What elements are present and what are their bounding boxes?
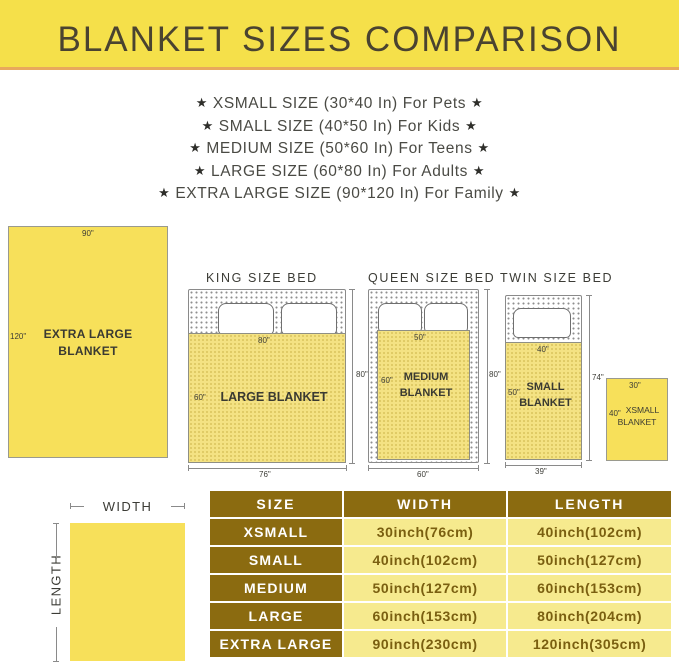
cell-width: 30inch(76cm) bbox=[344, 519, 506, 545]
star-icon: ★ bbox=[158, 185, 170, 200]
size-diagram-area: 90" 120" EXTRA LARGE BLANKET KING SIZE B… bbox=[0, 215, 679, 480]
cell-length: 40inch(102cm) bbox=[508, 519, 671, 545]
cell-length: 50inch(127cm) bbox=[508, 547, 671, 573]
infographic-root: BLANKET SIZES COMPARISON ★ XSMALL SIZE (… bbox=[0, 0, 679, 667]
king-width-measure-line bbox=[188, 468, 346, 469]
queen-bed-width-dim: 60" bbox=[417, 470, 429, 479]
king-height-measure-line bbox=[352, 289, 353, 463]
twin-bed-width-dim: 39" bbox=[535, 467, 547, 476]
key-width-tick-right bbox=[184, 503, 185, 509]
cell-length: 80inch(204cm) bbox=[508, 603, 671, 629]
extra-large-blanket-shape bbox=[8, 226, 168, 458]
large-blanket-width-dim: 80" bbox=[258, 336, 270, 345]
twin-height-measure-line bbox=[589, 295, 590, 460]
cell-size: MEDIUM bbox=[210, 575, 342, 601]
cell-length: 60inch(153cm) bbox=[508, 575, 671, 601]
twin-bed-height-dim: 74" bbox=[592, 373, 604, 382]
list-item: ★ MEDIUM SIZE (50*60 In) For Teens ★ bbox=[0, 137, 679, 160]
size-table: SIZE WIDTH LENGTH XSMALL 30inch(76cm) 40… bbox=[208, 489, 673, 659]
table-row: MEDIUM 50inch(127cm) 60inch(153cm) bbox=[210, 575, 671, 601]
key-width-tick-left bbox=[70, 503, 71, 509]
page-title: BLANKET SIZES COMPARISON bbox=[0, 20, 679, 60]
twin-height-tick-bottom bbox=[586, 460, 592, 461]
king-height-tick-top bbox=[349, 289, 355, 290]
small-blanket-width-dim: 40" bbox=[537, 345, 549, 354]
small-blanket-label-line1: SMALL bbox=[509, 380, 582, 395]
king-height-tick-bottom bbox=[349, 463, 355, 464]
queen-height-measure-line bbox=[487, 289, 488, 463]
queen-bed-title: QUEEN SIZE BED bbox=[368, 271, 495, 285]
small-blanket-label-line2: BLANKET bbox=[509, 396, 582, 411]
list-item: ★ SMALL SIZE (40*50 In) For Kids ★ bbox=[0, 115, 679, 138]
table-row: LARGE 60inch(153cm) 80inch(204cm) bbox=[210, 603, 671, 629]
key-width-line-right bbox=[171, 506, 185, 507]
king-bed-height-dim: 80" bbox=[356, 370, 368, 379]
queen-pillow-right bbox=[424, 303, 468, 333]
list-item: ★ LARGE SIZE (60*80 In) For Adults ★ bbox=[0, 160, 679, 183]
large-blanket-label: LARGE BLANKET bbox=[204, 390, 344, 405]
key-width-line-left bbox=[70, 506, 84, 507]
star-icon: ★ bbox=[196, 95, 208, 110]
cell-size: EXTRA LARGE bbox=[210, 631, 342, 657]
queen-height-tick-bottom bbox=[484, 463, 490, 464]
queen-pillow-left bbox=[378, 303, 422, 333]
king-pillow-right bbox=[281, 303, 337, 335]
table-row: SMALL 40inch(102cm) 50inch(127cm) bbox=[210, 547, 671, 573]
extra-large-blanket-label-line1: EXTRA LARGE bbox=[8, 327, 168, 342]
cell-length: 120inch(305cm) bbox=[508, 631, 671, 657]
twin-pillow bbox=[513, 308, 571, 338]
cell-size: LARGE bbox=[210, 603, 342, 629]
star-icon: ★ bbox=[465, 118, 477, 133]
key-length-line-bottom bbox=[56, 627, 57, 661]
queen-bed-height-dim: 80" bbox=[489, 370, 501, 379]
xsmall-blanket-label-line2: BLANKET bbox=[606, 417, 668, 428]
width-length-key: WIDTH LENGTH bbox=[20, 495, 205, 667]
list-item-label: EXTRA LARGE SIZE (90*120 In) For Family bbox=[175, 185, 503, 202]
list-item-label: MEDIUM SIZE (50*60 In) For Teens bbox=[206, 140, 472, 157]
cell-width: 40inch(102cm) bbox=[344, 547, 506, 573]
star-icon: ★ bbox=[477, 140, 489, 155]
star-icon: ★ bbox=[202, 118, 214, 133]
cell-size: XSMALL bbox=[210, 519, 342, 545]
list-item: ★ XSMALL SIZE (30*40 In) For Pets ★ bbox=[0, 92, 679, 115]
king-bed-title: KING SIZE BED bbox=[206, 271, 318, 285]
king-width-tick-left bbox=[188, 465, 189, 471]
extra-large-width-dim: 90" bbox=[82, 229, 94, 238]
column-header-size: SIZE bbox=[210, 491, 342, 517]
king-pillow-left bbox=[218, 303, 274, 335]
key-length-tick-bottom bbox=[53, 661, 59, 662]
column-header-width: WIDTH bbox=[344, 491, 506, 517]
medium-blanket-label-line1: MEDIUM bbox=[382, 370, 470, 385]
column-header-length: LENGTH bbox=[508, 491, 671, 517]
king-bed-width-dim: 76" bbox=[259, 470, 271, 479]
medium-blanket-width-dim: 50" bbox=[414, 333, 426, 342]
queen-width-tick-left bbox=[368, 465, 369, 471]
cell-size: SMALL bbox=[210, 547, 342, 573]
queen-width-measure-line bbox=[368, 468, 479, 469]
table-row: XSMALL 30inch(76cm) 40inch(102cm) bbox=[210, 519, 671, 545]
twin-bed-title: TWIN SIZE BED bbox=[500, 271, 613, 285]
list-item-label: SMALL SIZE (40*50 In) For Kids bbox=[219, 118, 460, 135]
key-blanket-swatch bbox=[70, 523, 185, 661]
table-row: EXTRA LARGE 90inch(230cm) 120inch(305cm) bbox=[210, 631, 671, 657]
medium-blanket-label-line2: BLANKET bbox=[382, 386, 470, 401]
cell-width: 60inch(153cm) bbox=[344, 603, 506, 629]
queen-height-tick-top bbox=[484, 289, 490, 290]
star-icon: ★ bbox=[509, 185, 521, 200]
xsmall-blanket-label-line1: XSMALL bbox=[617, 405, 668, 416]
twin-width-measure-line bbox=[505, 465, 582, 466]
twin-height-tick-top bbox=[586, 295, 592, 296]
cell-width: 90inch(230cm) bbox=[344, 631, 506, 657]
star-icon: ★ bbox=[194, 163, 206, 178]
twin-width-tick-left bbox=[505, 462, 506, 468]
list-item-label: LARGE SIZE (60*80 In) For Adults bbox=[211, 163, 468, 180]
size-summary-list: ★ XSMALL SIZE (30*40 In) For Pets ★ ★ SM… bbox=[0, 92, 679, 205]
star-icon: ★ bbox=[471, 95, 483, 110]
star-icon: ★ bbox=[473, 163, 485, 178]
table-header-row: SIZE WIDTH LENGTH bbox=[210, 491, 671, 517]
extra-large-blanket-label-line2: BLANKET bbox=[8, 344, 168, 359]
key-width-label: WIDTH bbox=[70, 499, 185, 514]
cell-width: 50inch(127cm) bbox=[344, 575, 506, 601]
queen-width-tick-right bbox=[478, 465, 479, 471]
xsmall-width-dim: 30" bbox=[629, 381, 641, 390]
key-length-tick-top bbox=[53, 523, 59, 524]
twin-width-tick-right bbox=[581, 462, 582, 468]
list-item-label: XSMALL SIZE (30*40 In) For Pets bbox=[213, 95, 466, 112]
list-item: ★ EXTRA LARGE SIZE (90*120 In) For Famil… bbox=[0, 182, 679, 205]
king-width-tick-right bbox=[346, 465, 347, 471]
key-length-line-top bbox=[56, 523, 57, 559]
star-icon: ★ bbox=[189, 140, 201, 155]
